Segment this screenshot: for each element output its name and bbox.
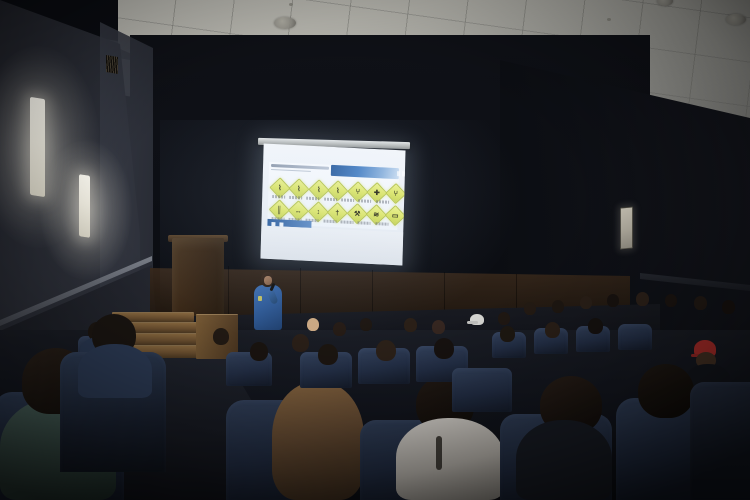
person-long-hair xyxy=(272,382,364,500)
seat xyxy=(690,382,750,500)
presenter-face xyxy=(264,276,272,285)
sign-caption xyxy=(324,198,337,202)
sign-caption xyxy=(357,221,370,225)
sign-caption xyxy=(376,200,389,204)
ceiling-diffuser-icon xyxy=(726,14,746,25)
auditorium-scene: ⌇ ⌇ ⌇ ⌇ ⑂ ✚ ⑂ ║ ↔ ↕ † ⚒ ≋ ▭ xyxy=(0,0,750,500)
seat xyxy=(618,324,652,350)
sign-caption xyxy=(306,197,319,201)
slide-header xyxy=(269,162,399,179)
sign-caption xyxy=(289,196,302,200)
audience-head xyxy=(524,302,536,315)
audience-shoulders xyxy=(516,420,612,500)
audience-white-cap-icon xyxy=(470,314,484,325)
seat xyxy=(452,368,512,412)
slide-banner xyxy=(331,165,399,179)
projection-screen-blank-area xyxy=(260,226,403,266)
slide-banner-text xyxy=(397,171,406,179)
wall-sconce-left-near xyxy=(79,174,90,238)
presenter xyxy=(250,272,286,330)
sign-caption xyxy=(358,199,371,203)
audience-head xyxy=(404,318,417,332)
ceiling-smoke-detector-icon xyxy=(289,3,293,6)
sign-caption xyxy=(341,198,354,202)
audience-head xyxy=(434,338,454,359)
audience-head xyxy=(307,318,319,331)
audience-head xyxy=(500,326,515,342)
person-white-hoodie xyxy=(396,418,504,500)
audience-head xyxy=(607,294,619,307)
wall-sconce-right xyxy=(620,206,633,249)
sign-caption xyxy=(340,220,353,224)
presentation-slide: ⌇ ⌇ ⌇ ⌇ ⑂ ✚ ⑂ ║ ↔ ↕ † ⚒ ≋ ▭ xyxy=(267,162,399,230)
audience-head xyxy=(498,312,510,325)
audience-head xyxy=(694,296,707,310)
projection-screen: ⌇ ⌇ ⌇ ⌇ ⑂ ✚ ⑂ ║ ↔ ↕ † ⚒ ≋ ▭ xyxy=(260,144,405,266)
ventilation-grille-icon xyxy=(106,55,118,74)
audience-shoulders xyxy=(78,344,152,398)
audience-head xyxy=(213,328,229,345)
audience-head xyxy=(588,318,603,334)
audience-head xyxy=(636,292,649,306)
sign-caption xyxy=(375,222,388,226)
audience-head xyxy=(665,294,677,307)
audience-head xyxy=(638,364,694,418)
hoodie-drawstring xyxy=(436,436,442,470)
audience-head xyxy=(360,318,372,331)
audience-head xyxy=(318,344,338,365)
slide-subtitle-text xyxy=(271,168,311,172)
audience-head xyxy=(376,340,396,361)
audience-head xyxy=(552,300,564,313)
audience-head xyxy=(250,342,268,361)
audience-head xyxy=(432,320,445,334)
sign-caption xyxy=(272,195,285,199)
audience-head xyxy=(545,322,560,338)
presenter-badge xyxy=(258,296,262,301)
sign-caption xyxy=(323,220,336,224)
audience-head xyxy=(722,300,735,314)
audience-head xyxy=(580,296,592,309)
audience-head xyxy=(333,322,346,336)
ceiling-smoke-detector-icon xyxy=(607,18,611,21)
wall-sconce-left-far xyxy=(30,97,45,197)
ceiling-diffuser-icon xyxy=(274,17,296,29)
wooden-podium xyxy=(172,238,224,316)
audience-head xyxy=(292,334,309,352)
